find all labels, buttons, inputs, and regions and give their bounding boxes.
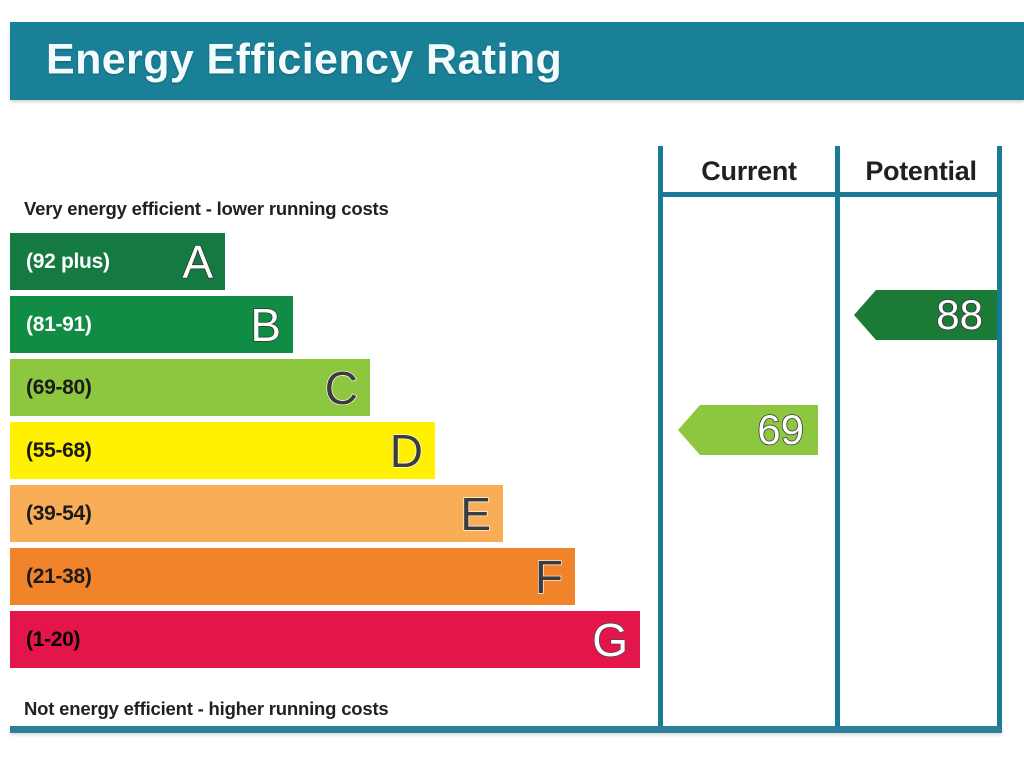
energy-efficiency-rating-chart: Energy Efficiency Rating Very energy eff… bbox=[0, 0, 1024, 761]
band-range-g: (1-20) bbox=[26, 629, 80, 650]
rating-band-g: (1-20)G bbox=[10, 611, 640, 668]
table-header-rule bbox=[658, 192, 1002, 197]
bottom-rule bbox=[10, 726, 1002, 733]
table-middle-divider bbox=[835, 146, 840, 730]
potential-rating-value: 88 bbox=[936, 294, 983, 336]
band-letter-b: B bbox=[250, 302, 285, 348]
band-letter-c: C bbox=[325, 365, 362, 411]
band-letter-f: F bbox=[535, 554, 567, 600]
band-range-a: (92 plus) bbox=[26, 251, 110, 272]
rating-band-a: (92 plus)A bbox=[10, 233, 225, 290]
band-range-d: (55-68) bbox=[26, 440, 92, 461]
rating-band-c: (69-80)C bbox=[10, 359, 370, 416]
rating-table: Current Potential 69 88 bbox=[658, 146, 1002, 730]
band-range-e: (39-54) bbox=[26, 503, 92, 524]
table-left-border bbox=[658, 146, 663, 730]
band-letter-e: E bbox=[460, 491, 495, 537]
caption-very-efficient: Very energy efficient - lower running co… bbox=[24, 198, 389, 220]
rating-band-f: (21-38)F bbox=[10, 548, 575, 605]
rating-band-d: (55-68)D bbox=[10, 422, 435, 479]
band-letter-a: A bbox=[182, 239, 217, 285]
potential-rating-marker: 88 bbox=[854, 290, 997, 340]
caption-not-efficient: Not energy efficient - higher running co… bbox=[24, 698, 389, 720]
band-range-c: (69-80) bbox=[26, 377, 92, 398]
column-header-potential: Potential bbox=[840, 151, 1002, 191]
band-range-f: (21-38) bbox=[26, 566, 92, 587]
band-letter-g: G bbox=[592, 617, 632, 663]
title-bar: Energy Efficiency Rating bbox=[10, 22, 1024, 100]
current-rating-marker: 69 bbox=[678, 405, 818, 455]
rating-band-b: (81-91)B bbox=[10, 296, 293, 353]
band-letter-d: D bbox=[390, 428, 427, 474]
page-title: Energy Efficiency Rating bbox=[46, 36, 562, 85]
column-header-current: Current bbox=[663, 151, 835, 191]
rating-band-e: (39-54)E bbox=[10, 485, 503, 542]
band-range-b: (81-91) bbox=[26, 314, 92, 335]
table-right-border bbox=[997, 146, 1002, 730]
current-rating-value: 69 bbox=[757, 409, 804, 451]
